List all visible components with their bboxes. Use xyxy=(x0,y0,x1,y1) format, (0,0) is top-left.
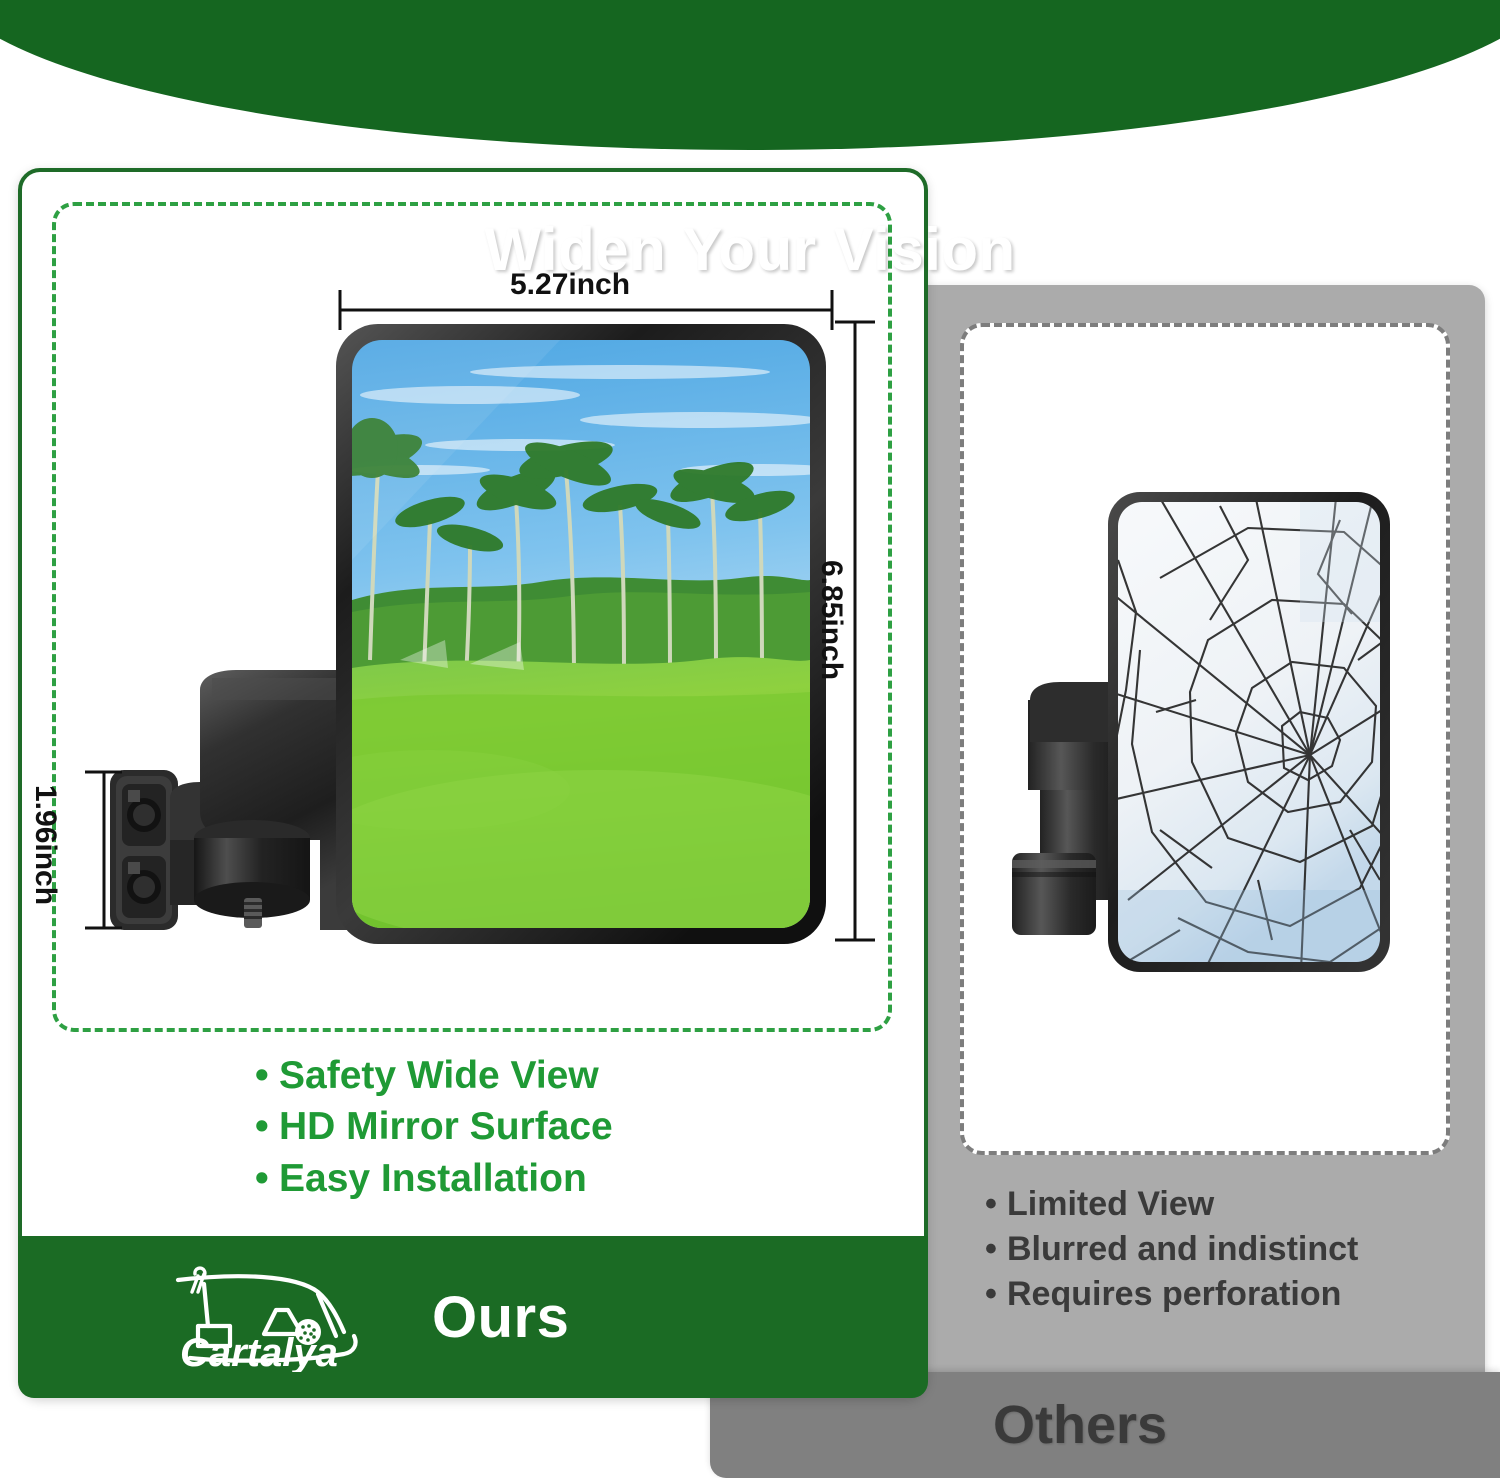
bullet-dot: • xyxy=(255,1153,279,1204)
ours-product-frame xyxy=(52,202,892,1032)
others-bullet-1: Blurred and indistinct xyxy=(1007,1230,1358,1268)
list-item: •HD Mirror Surface xyxy=(255,1101,613,1152)
ours-bullet-0: Safety Wide View xyxy=(279,1054,599,1097)
list-item: •Easy Installation xyxy=(255,1153,613,1204)
list-item: •Requires perforation xyxy=(985,1272,1455,1317)
ours-label-bar: Cartalya Ours xyxy=(18,1236,928,1398)
list-item: •Safety Wide View xyxy=(255,1050,613,1101)
ours-panel xyxy=(18,168,928,1398)
others-feature-list: •Limited View •Blurred and indistinct •R… xyxy=(985,1182,1455,1318)
dimension-bracket-label: 1.96inch xyxy=(28,785,62,905)
bullet-dot: • xyxy=(255,1050,279,1101)
brand-wordmark: Cartalya xyxy=(180,1331,338,1372)
ours-label: Ours xyxy=(432,1284,569,1351)
others-product-frame xyxy=(960,323,1450,1155)
ours-bullet-1: HD Mirror Surface xyxy=(279,1105,613,1148)
ours-bullet-2: Easy Installation xyxy=(279,1157,587,1200)
others-bullet-2: Requires perforation xyxy=(1007,1275,1341,1313)
bullet-dot: • xyxy=(985,1182,1007,1227)
others-bullet-0: Limited View xyxy=(1007,1185,1214,1223)
bullet-dot: • xyxy=(255,1101,279,1152)
page-title: Widen Your Vision xyxy=(0,0,1500,284)
golf-cart-logo-icon: Cartalya xyxy=(168,1262,398,1372)
ours-feature-list: •Safety Wide View •HD Mirror Surface •Ea… xyxy=(255,1050,613,1204)
list-item: •Limited View xyxy=(985,1182,1455,1227)
list-item: •Blurred and indistinct xyxy=(985,1227,1455,1272)
bullet-dot: • xyxy=(985,1227,1007,1272)
dimension-height-label: 6.85inch xyxy=(814,560,848,680)
bullet-dot: • xyxy=(985,1272,1007,1317)
infographic-page: Widen Your Vision xyxy=(0,0,1500,1478)
brand-lockup: Cartalya Ours xyxy=(168,1262,569,1372)
